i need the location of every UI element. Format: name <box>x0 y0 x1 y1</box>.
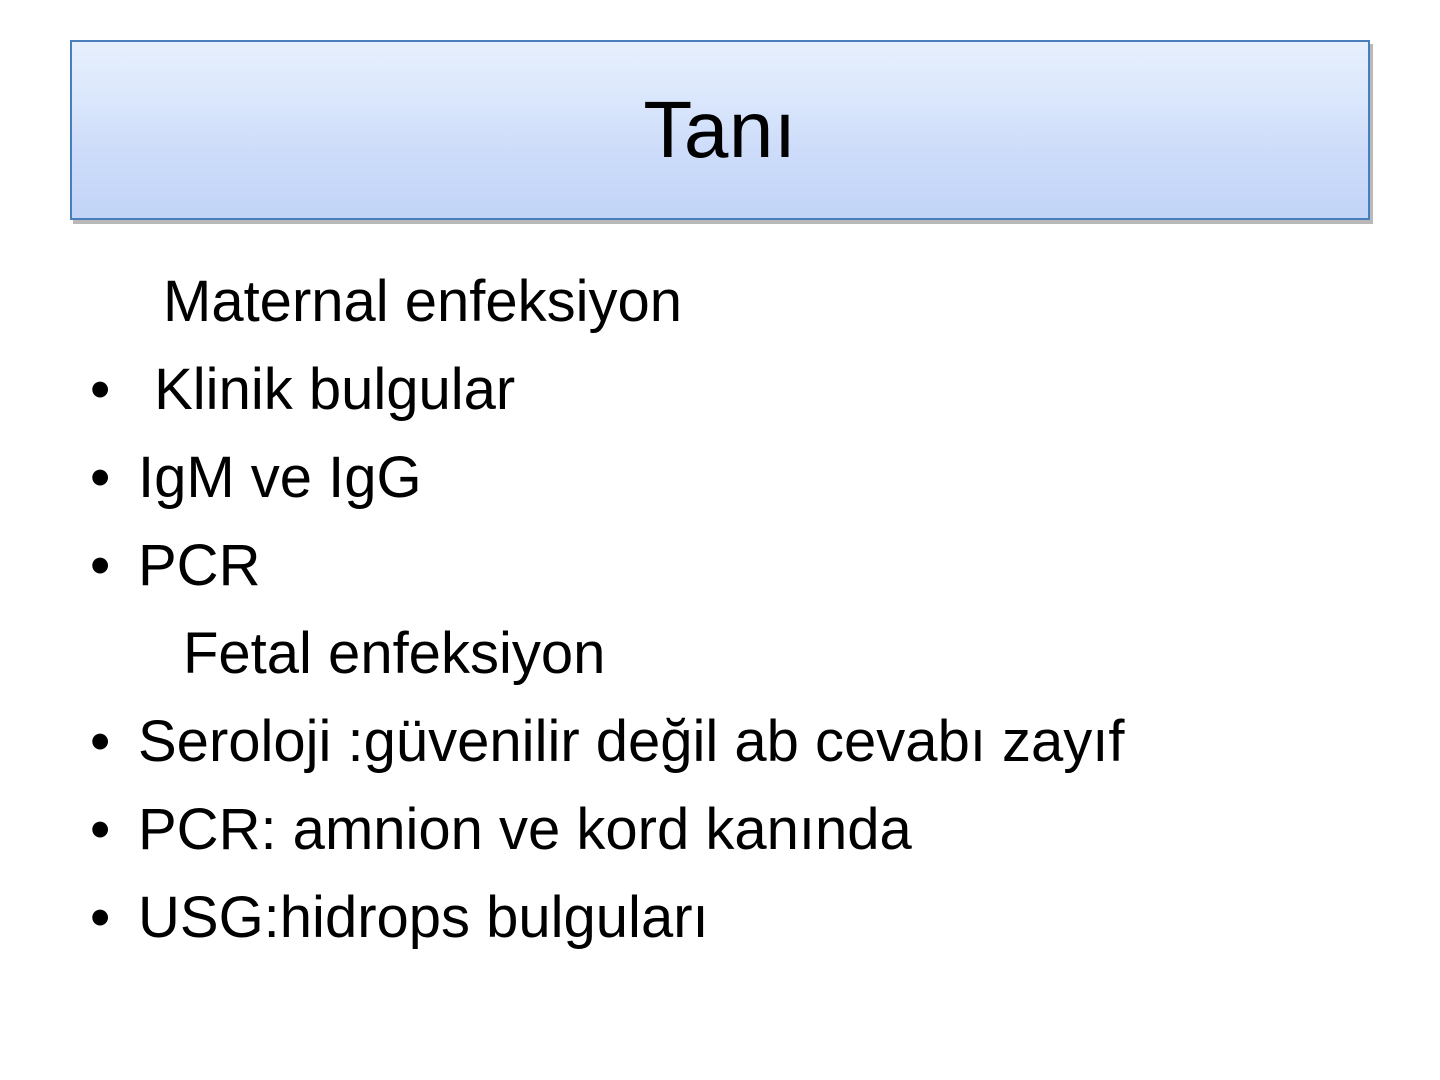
body-line-text: Fetal enfeksiyon <box>183 621 605 686</box>
bullet-list-item: •USG:hidrops bulguları <box>78 874 1368 962</box>
body-line-text: USG:hidrops bulguları <box>138 885 709 950</box>
slide: Tanı Maternal enfeksiyon• Klinik bulgula… <box>0 0 1440 1080</box>
slide-title-placeholder[interactable]: Tanı <box>70 40 1370 220</box>
body-line-text: Seroloji :güvenilir değil ab cevabı zayı… <box>138 709 1125 774</box>
bullet-list-item: •PCR <box>78 522 1368 610</box>
bullet-list-item: •PCR: amnion ve kord kanında <box>78 786 1368 874</box>
body-heading-line: Fetal enfeksiyon <box>78 610 1368 698</box>
body-heading-line: Maternal enfeksiyon <box>78 258 1368 346</box>
bullet-icon: • <box>90 786 118 874</box>
bullet-icon: • <box>90 434 118 522</box>
bullet-icon: • <box>90 874 118 962</box>
body-line-text: Klinik bulgular <box>138 357 515 422</box>
bullet-list-item: •Seroloji :güvenilir değil ab cevabı zay… <box>78 698 1368 786</box>
page-title: Tanı <box>643 90 796 170</box>
bullet-icon: • <box>90 522 118 610</box>
bullet-list-item: •IgM ve IgG <box>78 434 1368 522</box>
bullet-icon: • <box>90 698 118 786</box>
body-line-text: Maternal enfeksiyon <box>163 269 682 334</box>
body-line-text: PCR: amnion ve kord kanında <box>138 797 912 862</box>
bullet-icon: • <box>90 346 118 434</box>
bullet-list-item: • Klinik bulgular <box>78 346 1368 434</box>
body-line-text: PCR <box>138 533 260 598</box>
slide-body-placeholder[interactable]: Maternal enfeksiyon• Klinik bulgular•IgM… <box>78 258 1368 1018</box>
body-line-text: IgM ve IgG <box>138 445 422 510</box>
